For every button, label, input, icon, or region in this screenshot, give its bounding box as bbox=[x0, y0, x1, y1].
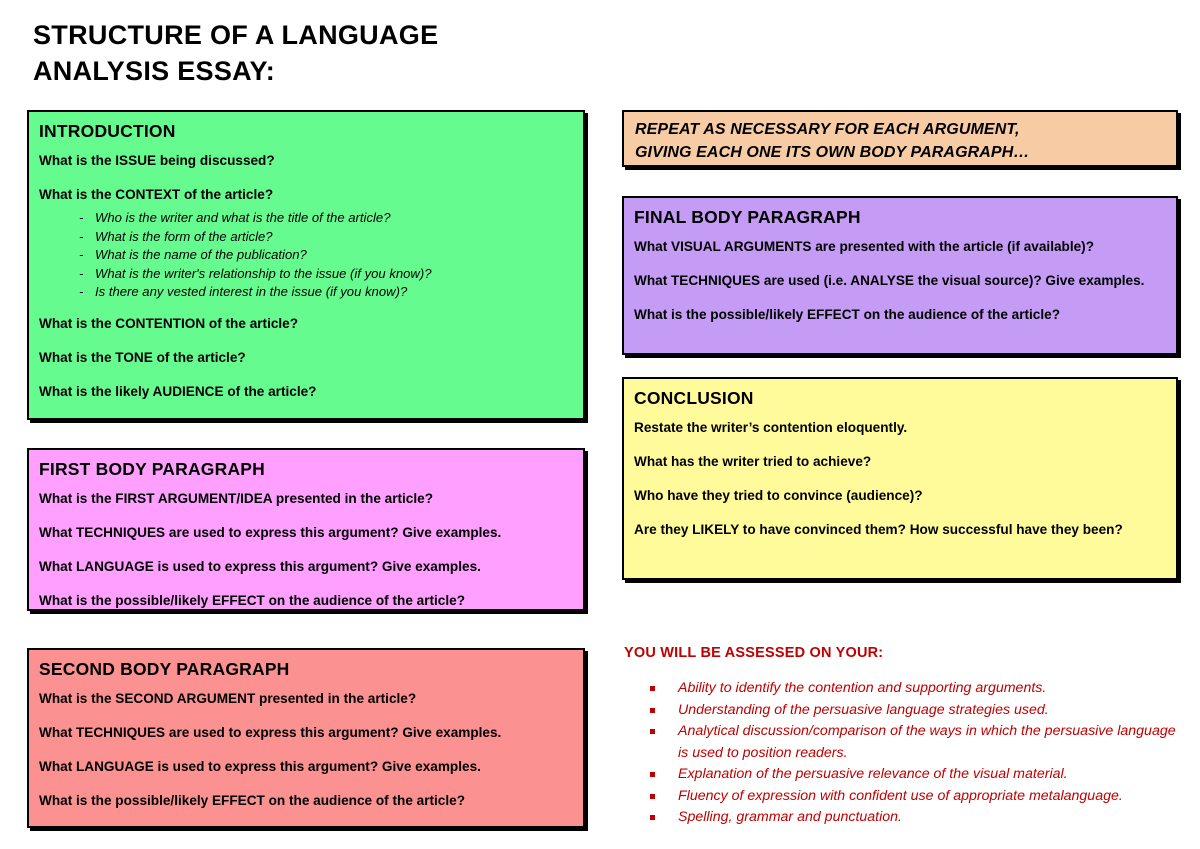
list-item: Ability to identify the contention and s… bbox=[650, 678, 1184, 700]
list-item: -Who is the writer and what is the title… bbox=[79, 209, 573, 227]
list-item-label: Spelling, grammar and punctuation. bbox=[678, 809, 902, 825]
first-body-argument-question: What is the FIRST ARGUMENT/IDEA presente… bbox=[39, 490, 573, 508]
final-body-visual-arguments-question: What VISUAL ARGUMENTS are presented with… bbox=[634, 238, 1166, 256]
conclusion-convince-question: Who have they tried to convince (audienc… bbox=[634, 487, 1166, 505]
list-item-label: What is the name of the publication? bbox=[95, 247, 307, 262]
second-body-effect-question: What is the possible/likely EFFECT on th… bbox=[39, 792, 573, 810]
first-body-paragraph-panel: FIRST BODY PARAGRAPH What is the FIRST A… bbox=[27, 448, 585, 611]
repeat-note-line-1: REPEAT AS NECESSARY FOR EACH ARGUMENT, bbox=[635, 119, 1165, 142]
introduction-contention-question: What is the CONTENTION of the article? bbox=[39, 315, 573, 333]
second-body-paragraph-panel: SECOND BODY PARAGRAPH What is the SECOND… bbox=[27, 648, 585, 828]
dash-icon: - bbox=[79, 246, 83, 264]
introduction-heading: INTRODUCTION bbox=[39, 121, 573, 141]
first-body-language-question: What LANGUAGE is used to express this ar… bbox=[39, 558, 573, 576]
first-body-effect-question: What is the possible/likely EFFECT on th… bbox=[39, 592, 573, 610]
list-item-label: Who is the writer and what is the title … bbox=[95, 210, 390, 225]
dash-icon: - bbox=[79, 228, 83, 246]
conclusion-likely-question: Are they LIKELY to have convinced them? … bbox=[634, 521, 1166, 539]
list-item: -What is the writer's relationship to th… bbox=[79, 265, 573, 283]
list-item: Analytical discussion/comparison of the … bbox=[650, 721, 1184, 764]
conclusion-heading: CONCLUSION bbox=[634, 388, 1166, 408]
conclusion-panel: CONCLUSION Restate the writer’s contenti… bbox=[622, 377, 1178, 580]
dash-icon: - bbox=[79, 209, 83, 227]
square-bullet-icon bbox=[650, 686, 655, 691]
page-title-line-1: STRUCTURE OF A LANGUAGE bbox=[33, 18, 593, 54]
assessment-criteria-block: YOU WILL BE ASSESSED ON YOUR: Ability to… bbox=[624, 645, 1184, 829]
list-item: -What is the form of the article? bbox=[79, 228, 573, 246]
conclusion-restate-line: Restate the writer’s contention eloquent… bbox=[634, 419, 1166, 437]
assessment-criteria-title: YOU WILL BE ASSESSED ON YOUR: bbox=[624, 645, 1184, 661]
second-body-heading: SECOND BODY PARAGRAPH bbox=[39, 659, 573, 679]
list-item-label: Is there any vested interest in the issu… bbox=[95, 284, 407, 299]
introduction-tone-question: What is the TONE of the article? bbox=[39, 349, 573, 367]
list-item: Understanding of the persuasive language… bbox=[650, 700, 1184, 722]
dash-icon: - bbox=[79, 265, 83, 283]
second-body-argument-question: What is the SECOND ARGUMENT presented in… bbox=[39, 690, 573, 708]
page-title: STRUCTURE OF A LANGUAGE ANALYSIS ESSAY: bbox=[33, 18, 593, 90]
repeat-note-panel: REPEAT AS NECESSARY FOR EACH ARGUMENT, G… bbox=[622, 110, 1178, 167]
square-bullet-icon bbox=[650, 815, 655, 820]
final-body-effect-question: What is the possible/likely EFFECT on th… bbox=[634, 306, 1166, 324]
list-item-label: Understanding of the persuasive language… bbox=[678, 702, 1049, 718]
second-body-techniques-question: What TECHNIQUES are used to express this… bbox=[39, 724, 573, 742]
list-item: Fluency of expression with confident use… bbox=[650, 786, 1184, 808]
list-item-label: What is the writer's relationship to the… bbox=[95, 266, 432, 281]
second-body-language-question: What LANGUAGE is used to express this ar… bbox=[39, 758, 573, 776]
list-item-label: What is the form of the article? bbox=[95, 229, 273, 244]
conclusion-achieve-question: What has the writer tried to achieve? bbox=[634, 453, 1166, 471]
introduction-issue-question: What is the ISSUE being discussed? bbox=[39, 152, 573, 170]
list-item: -Is there any vested interest in the iss… bbox=[79, 283, 573, 301]
page-title-line-2: ANALYSIS ESSAY: bbox=[33, 54, 593, 90]
final-body-techniques-question: What TECHNIQUES are used (i.e. ANALYSE t… bbox=[634, 272, 1166, 290]
square-bullet-icon bbox=[650, 729, 655, 734]
introduction-context-sublist: -Who is the writer and what is the title… bbox=[39, 209, 573, 301]
introduction-panel: INTRODUCTION What is the ISSUE being dis… bbox=[27, 110, 585, 420]
square-bullet-icon bbox=[650, 794, 655, 799]
list-item: -What is the name of the publication? bbox=[79, 246, 573, 264]
list-item-label: Ability to identify the contention and s… bbox=[678, 680, 1046, 696]
square-bullet-icon bbox=[650, 708, 655, 713]
list-item-label: Analytical discussion/comparison of the … bbox=[678, 723, 1176, 761]
list-item-label: Fluency of expression with confident use… bbox=[678, 788, 1123, 804]
assessment-criteria-list: Ability to identify the contention and s… bbox=[624, 678, 1184, 829]
introduction-audience-question: What is the likely AUDIENCE of the artic… bbox=[39, 383, 573, 401]
list-item: Spelling, grammar and punctuation. bbox=[650, 807, 1184, 829]
final-body-heading: FINAL BODY PARAGRAPH bbox=[634, 207, 1166, 227]
first-body-heading: FIRST BODY PARAGRAPH bbox=[39, 459, 573, 479]
square-bullet-icon bbox=[650, 772, 655, 777]
dash-icon: - bbox=[79, 283, 83, 301]
list-item: Explanation of the persuasive relevance … bbox=[650, 764, 1184, 786]
first-body-techniques-question: What TECHNIQUES are used to express this… bbox=[39, 524, 573, 542]
introduction-context-question: What is the CONTEXT of the article? bbox=[39, 186, 573, 204]
repeat-note-line-2: GIVING EACH ONE ITS OWN BODY PARAGRAPH… bbox=[635, 142, 1165, 165]
final-body-paragraph-panel: FINAL BODY PARAGRAPH What VISUAL ARGUMEN… bbox=[622, 196, 1178, 355]
list-item-label: Explanation of the persuasive relevance … bbox=[678, 766, 1068, 782]
